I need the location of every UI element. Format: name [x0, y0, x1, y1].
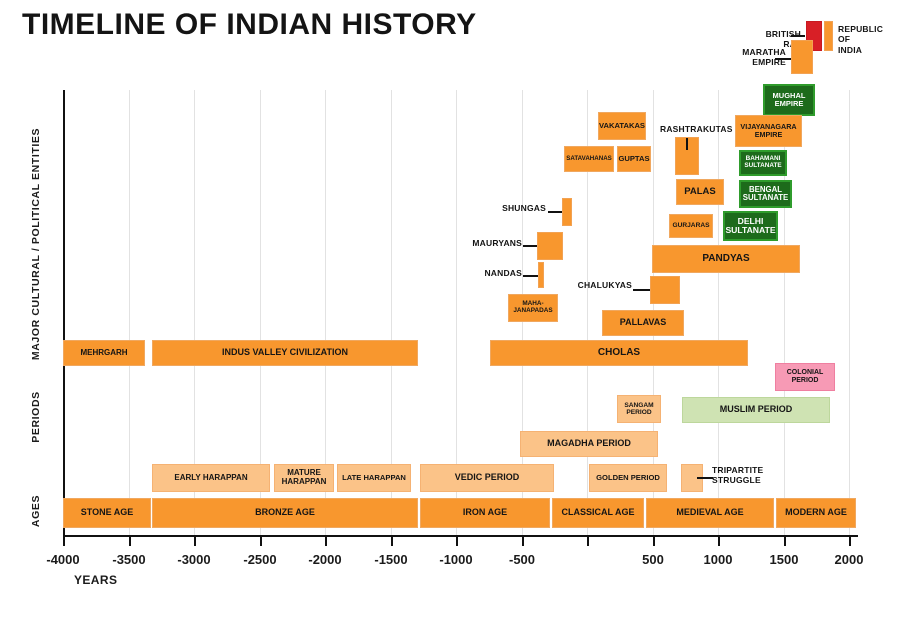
years-axis-label: YEARS — [74, 573, 117, 587]
bar-medieval-age[interactable]: MEDIEVAL AGE — [646, 498, 774, 528]
axis-tick-label: -4000 — [33, 552, 93, 567]
bar-maratha-empire[interactable] — [791, 40, 813, 74]
bar-label-sangam-period: SANGAM PERIOD — [622, 402, 655, 416]
axis-tick — [653, 537, 655, 546]
gridline — [129, 90, 130, 535]
bar-label-mughal-empire: MUGHAL EMPIRE — [771, 92, 808, 108]
bar-label-maha-janapadas: MAHA- JANAPADAS — [511, 301, 554, 315]
bar-republic-of-india[interactable] — [824, 21, 833, 51]
bar-mehrgarh[interactable]: MEHRGARH — [63, 340, 145, 366]
bar-label-bronze-age: BRONZE AGE — [253, 508, 317, 518]
bar-label-palas: PALAS — [682, 187, 718, 197]
bar-bengal-sultanate[interactable]: BENGAL SULTANATE — [739, 180, 792, 208]
bar-label-early-harappan: EARLY HARAPPAN — [172, 474, 249, 483]
axis-tick-label: -2500 — [230, 552, 290, 567]
axis-tick-label: -3500 — [99, 552, 159, 567]
bar-vakatakas[interactable]: VAKATAKAS — [598, 112, 646, 140]
bar-label-pallavas: PALLAVAS — [618, 318, 669, 328]
axis-tick-label: 1000 — [688, 552, 748, 567]
bar-palas[interactable]: PALAS — [676, 179, 724, 205]
axis-tick — [325, 537, 327, 546]
bar-iron-age[interactable]: IRON AGE — [420, 498, 550, 528]
bar-label-iron-age: IRON AGE — [461, 508, 509, 518]
bar-pallavas[interactable]: PALLAVAS — [602, 310, 684, 336]
leader-line-chalukyas — [633, 289, 650, 291]
bar-mughal-empire[interactable]: MUGHAL EMPIRE — [763, 84, 815, 116]
axis-tick-label: 1500 — [754, 552, 814, 567]
bar-label-golden-period: GOLDEN PERIOD — [594, 474, 662, 482]
bar-label-classical-age: CLASSICAL AGE — [559, 508, 636, 518]
gridline — [849, 90, 850, 535]
bar-cholas[interactable]: CHOLAS — [490, 340, 748, 366]
bar-label-muslim-period: MUSLIM PERIOD — [718, 405, 795, 415]
bar-label-medieval-age: MEDIEVAL AGE — [674, 508, 745, 518]
bar-early-harappan[interactable]: EARLY HARAPPAN — [152, 464, 270, 492]
bar-bronze-age[interactable]: BRONZE AGE — [152, 498, 418, 528]
axis-tick-label: -1000 — [426, 552, 486, 567]
bar-magadha-period[interactable]: MAGADHA PERIOD — [520, 431, 658, 457]
bar-golden-period[interactable]: GOLDEN PERIOD — [589, 464, 667, 492]
axis-tick — [718, 537, 720, 546]
axis-tick-label: -1500 — [361, 552, 421, 567]
bar-stone-age[interactable]: STONE AGE — [63, 498, 151, 528]
bar-label-vedic-period: VEDIC PERIOD — [453, 473, 522, 483]
axis-tick-label: 500 — [623, 552, 683, 567]
axis-tick — [849, 537, 851, 546]
axis-tick — [260, 537, 262, 546]
bar-sangam-period[interactable]: SANGAM PERIOD — [617, 395, 661, 423]
bar-nandas[interactable] — [538, 262, 544, 288]
callout-shungas: SHUNGAS — [508, 203, 546, 213]
bar-label-pandyas: PANDYAS — [700, 254, 751, 265]
x-axis — [63, 535, 858, 537]
leader-line-mauryans — [523, 245, 537, 247]
axis-tick — [194, 537, 196, 546]
bar-label-bahamani-sultanate: BAHAMANI SULTANATE — [742, 156, 783, 170]
axis-tick-label: -3000 — [164, 552, 224, 567]
bar-maha-janapadas[interactable]: MAHA- JANAPADAS — [508, 294, 558, 322]
bar-label-delhi-sultanate: DELHI SULTANATE — [723, 217, 777, 236]
axis-tick-label: 2000 — [819, 552, 879, 567]
leader-line-rashtrakutas — [686, 138, 688, 150]
leader-line-tripartite-struggle — [697, 477, 713, 479]
callout-republic-of-india: REPUBLIC OF INDIA — [838, 24, 894, 55]
bar-indus-valley[interactable]: INDUS VALLEY CIVILIZATION — [152, 340, 418, 366]
bar-label-cholas: CHOLAS — [596, 348, 642, 359]
bar-classical-age[interactable]: CLASSICAL AGE — [552, 498, 644, 528]
bar-label-mehrgarh: MEHRGARH — [78, 349, 129, 358]
page-title: TIMELINE OF INDIAN HISTORY — [22, 8, 477, 42]
axis-tick — [129, 537, 131, 546]
axis-tick — [456, 537, 458, 546]
bar-label-indus-valley: INDUS VALLEY CIVILIZATION — [220, 348, 350, 358]
bar-label-satavahanas: SATAVAHANAS — [564, 156, 614, 163]
section-label-ages: AGES — [30, 381, 42, 641]
bar-label-colonial-period: COLONIAL PERIOD — [785, 369, 826, 384]
y-axis — [63, 90, 65, 535]
axis-tick — [784, 537, 786, 546]
bar-label-bengal-sultanate: BENGAL SULTANATE — [741, 186, 790, 203]
bar-muslim-period[interactable]: MUSLIM PERIOD — [682, 397, 830, 423]
axis-tick — [587, 537, 589, 546]
bar-late-harappan[interactable]: LATE HARAPPAN — [337, 464, 411, 492]
axis-tick-label: -2000 — [295, 552, 355, 567]
axis-tick — [522, 537, 524, 546]
bar-label-mature-harappan: MATURE HARAPPAN — [280, 469, 329, 486]
bar-label-magadha-period: MAGADHA PERIOD — [545, 439, 633, 449]
bar-modern-age[interactable]: MODERN AGE — [776, 498, 856, 528]
callout-tripartite-struggle: TRIPARTITE STRUGGLE — [712, 465, 772, 486]
axis-tick — [391, 537, 393, 546]
callout-mauryans: MAURYANS — [480, 238, 522, 248]
bar-satavahanas[interactable]: SATAVAHANAS — [564, 146, 614, 172]
leader-line-maratha-empire — [775, 58, 791, 60]
bar-colonial-period[interactable]: COLONIAL PERIOD — [775, 363, 835, 391]
bar-label-stone-age: STONE AGE — [79, 508, 136, 518]
bar-delhi-sultanate[interactable]: DELHI SULTANATE — [723, 211, 778, 241]
callout-rashtrakutas: RASHTRAKUTAS — [660, 124, 718, 134]
leader-line-british-raj — [791, 35, 805, 37]
bar-bahamani-sultanate[interactable]: BAHAMANI SULTANATE — [739, 150, 787, 176]
axis-tick — [63, 537, 65, 546]
bar-label-vakatakas: VAKATAKAS — [598, 122, 646, 130]
timeline-canvas: TIMELINE OF INDIAN HISTORY BRITISH RAJRE… — [0, 0, 900, 606]
bar-label-gurjaras: GURJARAS — [670, 222, 711, 229]
bar-guptas[interactable]: GUPTAS — [617, 146, 651, 172]
bar-label-late-harappan: LATE HARAPPAN — [340, 474, 408, 482]
bar-shungas[interactable] — [562, 198, 572, 226]
bar-gurjaras[interactable]: GURJARAS — [669, 214, 713, 238]
axis-tick-label: -500 — [492, 552, 552, 567]
bar-pandyas[interactable]: PANDYAS — [652, 245, 800, 273]
leader-line-shungas — [548, 211, 562, 213]
callout-nandas: NANDAS — [488, 268, 522, 278]
bar-mature-harappan[interactable]: MATURE HARAPPAN — [274, 464, 334, 492]
bar-label-guptas: GUPTAS — [617, 155, 651, 163]
leader-line-nandas — [523, 275, 538, 277]
bar-mauryans[interactable] — [537, 232, 563, 260]
bar-label-vijayanagara-empire: VIJAYANAGARA EMPIRE — [738, 123, 798, 139]
bar-label-modern-age: MODERN AGE — [783, 508, 849, 518]
bar-chalukyas[interactable] — [650, 276, 680, 304]
callout-chalukyas: CHALUKYAS — [582, 280, 632, 290]
bar-vedic-period[interactable]: VEDIC PERIOD — [420, 464, 554, 492]
bar-vijayanagara-empire[interactable]: VIJAYANAGARA EMPIRE — [735, 115, 802, 147]
